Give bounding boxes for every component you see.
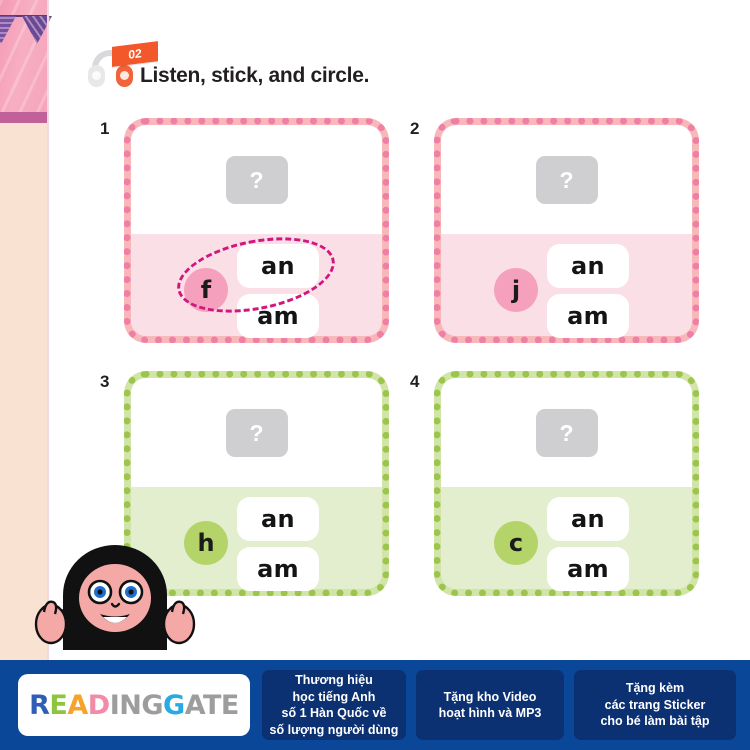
bunting-flag-icon [0, 16, 16, 44]
exercise-card: ? j an am [434, 118, 699, 343]
sticker-placeholder-label: ? [226, 156, 288, 204]
exercise-grid: 1 2 3 4 ? f an am [96, 118, 696, 608]
word-option-label: am [257, 302, 299, 330]
page-edge-bottom [0, 123, 48, 750]
letter-label: f [201, 278, 211, 302]
promo-panel-3: Tặng kèmcác trang Stickercho bé làm bài … [574, 670, 736, 740]
instruction-text: Listen, stick, and circle. [140, 64, 369, 90]
word-option-am[interactable]: am [547, 547, 629, 591]
word-option-an[interactable]: an [547, 497, 629, 541]
letter-label: h [197, 531, 214, 555]
word-option-label: an [261, 252, 295, 280]
exercise-card: ? c an am [434, 371, 699, 596]
word-option-an[interactable]: an [237, 497, 319, 541]
exercise-item-4[interactable]: ? c an am [434, 371, 699, 596]
sticker-placeholder[interactable]: ? [536, 409, 598, 457]
exercise-number-1: 1 [100, 119, 109, 139]
word-option-label: am [567, 555, 609, 583]
word-option-label: an [571, 505, 605, 533]
word-option-am[interactable]: am [547, 294, 629, 338]
promo-panel-1: Thương hiệuhọc tiếng Anhsố 1 Hàn Quốc về… [262, 670, 406, 740]
page-edge-band [0, 112, 48, 123]
sticker-placeholder[interactable]: ? [226, 156, 288, 204]
word-option-an[interactable]: an [547, 244, 629, 288]
brand-logo-plate: READINGGATE [18, 674, 250, 736]
word-option-am[interactable]: am [237, 547, 319, 591]
letter-circle: j [494, 268, 538, 312]
letter-label: c [509, 531, 523, 555]
word-option-am[interactable]: am [237, 294, 319, 338]
word-option-label: an [261, 505, 295, 533]
activity-number-badge: 02 [112, 41, 158, 67]
promo-panel-text: Thương hiệuhọc tiếng Anhsố 1 Hàn Quốc về… [270, 672, 399, 738]
exercise-item-1[interactable]: ? f an am [124, 118, 389, 343]
exercise-card: ? f an am [124, 118, 389, 343]
exercise-number-4: 4 [410, 372, 419, 392]
promo-panel-text: Tặng kho Videohoạt hình và MP3 [439, 689, 542, 722]
sticker-placeholder-label: ? [536, 156, 598, 204]
letter-label: j [512, 278, 520, 302]
promo-panel-text: Tặng kèmcác trang Stickercho bé làm bài … [600, 680, 709, 730]
promo-footer-banner: READINGGATE Thương hiệuhọc tiếng Anhsố 1… [0, 660, 750, 750]
sticker-placeholder[interactable]: ? [226, 409, 288, 457]
exercise-number-2: 2 [410, 119, 419, 139]
mascot-character [30, 540, 200, 650]
exercise-item-2[interactable]: ? j an am [434, 118, 699, 343]
word-option-an[interactable]: an [237, 244, 319, 288]
sticker-placeholder-label: ? [226, 409, 288, 457]
instruction-header: 02 Listen, stick, and circle. [88, 46, 369, 90]
readinggate-logo: READINGGATE [29, 690, 239, 721]
word-option-label: am [567, 302, 609, 330]
exercise-number-3: 3 [100, 372, 109, 392]
letter-circle: c [494, 521, 538, 565]
word-option-label: am [257, 555, 299, 583]
word-option-label: an [571, 252, 605, 280]
headphones-icon: 02 [88, 46, 134, 90]
activity-number: 02 [112, 41, 158, 67]
promo-panel-2: Tặng kho Videohoạt hình và MP3 [416, 670, 564, 740]
sticker-placeholder-label: ? [536, 409, 598, 457]
letter-circle: f [184, 268, 228, 312]
sticker-placeholder[interactable]: ? [536, 156, 598, 204]
